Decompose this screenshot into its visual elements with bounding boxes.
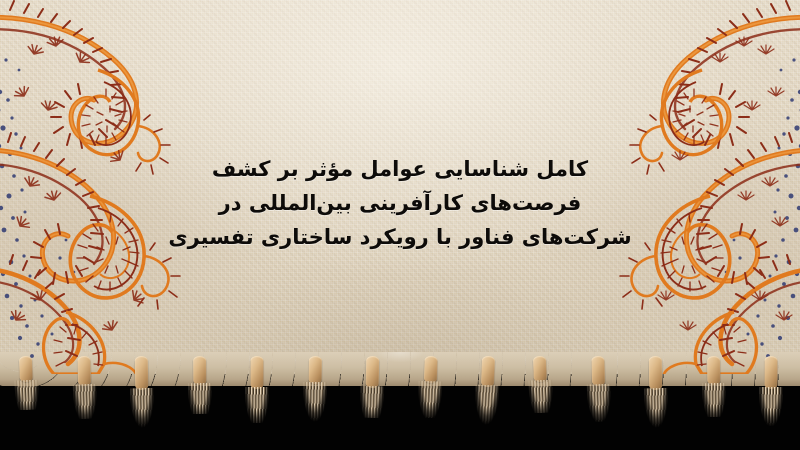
tassel-skirt <box>529 380 554 414</box>
tassel-fringe <box>0 352 800 450</box>
tassel-knot <box>251 356 264 389</box>
tassel <box>578 351 620 448</box>
tassel-skirt <box>474 385 499 428</box>
tassel-skirt <box>360 386 385 418</box>
tassel-knot <box>77 356 91 386</box>
tassel-skirt <box>759 387 783 426</box>
tassel-knot <box>19 356 33 382</box>
tassel <box>635 352 677 449</box>
tassel <box>466 351 509 448</box>
tassel <box>693 352 734 448</box>
tassel-knot <box>533 356 547 382</box>
tassel <box>63 351 105 448</box>
tassel-skirt <box>302 382 326 423</box>
tassel <box>237 352 277 448</box>
tassel-knot <box>707 356 720 385</box>
tassel-skirt <box>245 387 269 423</box>
title-line-3: شرکت‌های فناور با رویکرد ساختاری تفسیری <box>150 220 650 254</box>
title-card: کامل شناسایی عوامل مؤثر بر کشف فرصت‌های … <box>0 0 800 450</box>
tassel <box>179 352 220 448</box>
tassel-knot <box>424 356 438 383</box>
tassel-skirt <box>644 388 669 431</box>
tassel-knot <box>135 356 149 390</box>
tassel-skirt <box>72 384 97 420</box>
tassel-knot <box>649 356 663 390</box>
tassel-skirt <box>187 383 211 414</box>
tassel-knot <box>308 356 321 384</box>
tassel <box>5 351 48 448</box>
tassel <box>751 352 791 448</box>
tassel-skirt <box>130 388 155 428</box>
title-line-2: فرصت‌های کارآفرینی بین‌المللی در <box>150 186 650 220</box>
tassel-knot <box>366 356 380 388</box>
tassel-skirt <box>586 384 611 423</box>
tassel-skirt <box>702 383 726 417</box>
page-title: کامل شناسایی عوامل مؤثر بر کشف فرصت‌های … <box>150 152 650 254</box>
tassel <box>351 352 393 449</box>
tassel-skirt <box>417 381 442 419</box>
tassel-knot <box>481 356 495 387</box>
tassel <box>409 351 451 448</box>
tassel-knot <box>591 356 605 386</box>
tassel-knot <box>765 356 778 389</box>
tassel-skirt <box>14 380 39 411</box>
tassel <box>520 351 563 448</box>
title-line-1: کامل شناسایی عوامل مؤثر بر کشف <box>150 152 650 186</box>
tassel <box>294 352 335 448</box>
tassel <box>121 352 163 449</box>
tassel-knot <box>193 356 206 385</box>
